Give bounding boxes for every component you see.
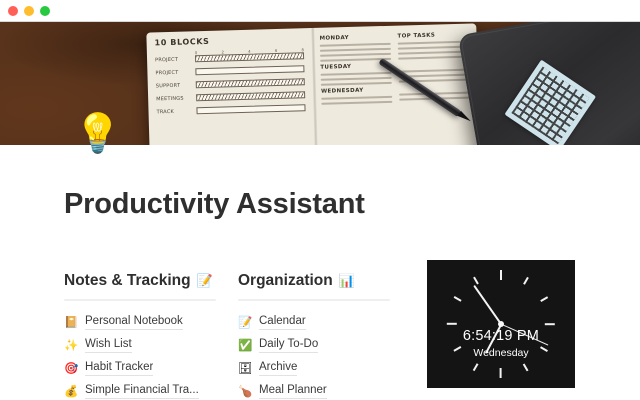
notebook-row: TRACK [156, 104, 305, 115]
section-divider [64, 299, 216, 301]
notebook-right-page: MONDAY TUESDAY WEDNESDAY [311, 23, 479, 145]
list-item-label[interactable]: Simple Financial Tra... [85, 382, 199, 399]
section-divider [238, 299, 390, 301]
list-item-daily-to-do[interactable]: ✅ Daily To-Do [238, 333, 390, 356]
notebook-row-bar [196, 104, 305, 114]
clock-center-hub [498, 321, 504, 327]
notebook-text-line [321, 101, 392, 105]
list-item-label[interactable]: Wish List [85, 336, 132, 353]
list-item-personal-notebook[interactable]: 📔 Personal Notebook [64, 310, 216, 333]
page-title: Productivity Assistant [64, 188, 365, 221]
notebook-row-bar [195, 65, 304, 75]
notebook-day-column: MONDAY TUESDAY WEDNESDAY [319, 32, 392, 108]
list-item-simple-financial-tracker[interactable]: 💰 Simple Financial Tra... [64, 379, 216, 400]
section-heading-organization: Organization 📊 [238, 272, 390, 290]
target-icon: 🎯 [64, 361, 78, 375]
notebook-row-label: PROJECT [155, 69, 191, 76]
clock-time-text: 6:54:19 PM [427, 328, 575, 344]
notebook-text-line [398, 51, 469, 55]
notebook-text-line [321, 82, 392, 86]
notebook-tasks-heading: TOP TASKS [397, 32, 468, 40]
money-bag-icon: 💰 [64, 384, 78, 398]
list-item-habit-tracker[interactable]: 🎯 Habit Tracker [64, 356, 216, 379]
notebook-text-line [398, 56, 469, 60]
list-item-archive[interactable]: 🗄 Archive [238, 356, 390, 379]
memo-icon: 📝 [238, 315, 252, 329]
notebook-row: PROJECT [155, 65, 304, 76]
maximize-button[interactable] [40, 6, 50, 16]
notebook-text-line [320, 53, 391, 57]
notebook-left-page: 10 BLOCKS 02468 PROJECT PROJECT SUPPORT [146, 28, 314, 145]
clock-day-text: Wednesday [427, 347, 575, 359]
notebook-text-line [320, 48, 391, 52]
poultry-leg-icon: 🍗 [238, 384, 252, 398]
memo-icon: 📝 [197, 274, 213, 289]
sparkles-icon: ✨ [64, 338, 78, 352]
list-item-label[interactable]: Personal Notebook [85, 313, 183, 330]
notebook-day-heading: MONDAY [319, 34, 390, 42]
file-cabinet-icon: 🗄 [238, 361, 252, 375]
notebook-day-heading: WEDNESDAY [321, 87, 392, 95]
traffic-light-controls [8, 6, 50, 16]
title-bar [0, 0, 640, 22]
clock-tick [500, 270, 502, 324]
column-organization: Organization 📊 📝 Calendar ✅ Daily To-Do … [238, 272, 390, 400]
notebook-row: MEETINGS [156, 91, 305, 102]
notebook-icon: 📔 [64, 315, 78, 329]
clock-tick [447, 323, 501, 325]
notebook-row-bar [196, 91, 305, 101]
hero-edge-fade [600, 22, 640, 145]
notebook-row-bar [196, 78, 305, 88]
bar-chart-icon: 📊 [339, 274, 355, 289]
lightbulb-icon: 💡 [74, 114, 121, 152]
list-item-label[interactable]: Calendar [259, 313, 306, 330]
notebook-text-line [320, 43, 391, 47]
bullet-journal-notebook: 10 BLOCKS 02468 PROJECT PROJECT SUPPORT [146, 23, 479, 145]
list-item-meal-planner[interactable]: 🍗 Meal Planner [238, 379, 390, 400]
notebook-text-line [398, 46, 469, 50]
notebook-text-line [398, 41, 469, 45]
list-item-label[interactable]: Habit Tracker [85, 359, 153, 376]
clock-face [427, 260, 575, 388]
section-heading-notes-tracking: Notes & Tracking 📝 [64, 272, 216, 290]
list-item-wish-list[interactable]: ✨ Wish List [64, 333, 216, 356]
notebook-row-label: TRACK [156, 108, 192, 115]
list-item-label[interactable]: Meal Planner [259, 382, 327, 399]
notebook-row-label: SUPPORT [156, 82, 192, 89]
list-item-label[interactable]: Archive [259, 359, 297, 376]
clock-tick [501, 323, 555, 325]
app-window: 10 BLOCKS 02468 PROJECT PROJECT SUPPORT [0, 0, 640, 400]
minimize-button[interactable] [24, 6, 34, 16]
notebook-row: SUPPORT [156, 78, 305, 89]
column-notes-tracking: Notes & Tracking 📝 📔 Personal Notebook ✨… [64, 272, 216, 400]
section-heading-label: Notes & Tracking [64, 272, 191, 290]
list-item-label[interactable]: Daily To-Do [259, 336, 318, 353]
notebook-text-line [321, 96, 392, 100]
clock-widget: 6:54:19 PM Wednesday [427, 260, 575, 388]
check-mark-icon: ✅ [238, 338, 252, 352]
notebook-row-label: PROJECT [155, 56, 191, 63]
section-heading-label: Organization [238, 272, 333, 290]
notebook-text-line [321, 77, 392, 81]
list-item-calendar[interactable]: 📝 Calendar [238, 310, 390, 333]
clock-minute-hand [473, 285, 502, 325]
notebook-row-label: MEETINGS [156, 95, 192, 102]
clock-tick [500, 277, 528, 325]
notebook-text-line [321, 72, 392, 76]
close-button[interactable] [8, 6, 18, 16]
notebook-heading: 10 BLOCKS [154, 34, 303, 47]
